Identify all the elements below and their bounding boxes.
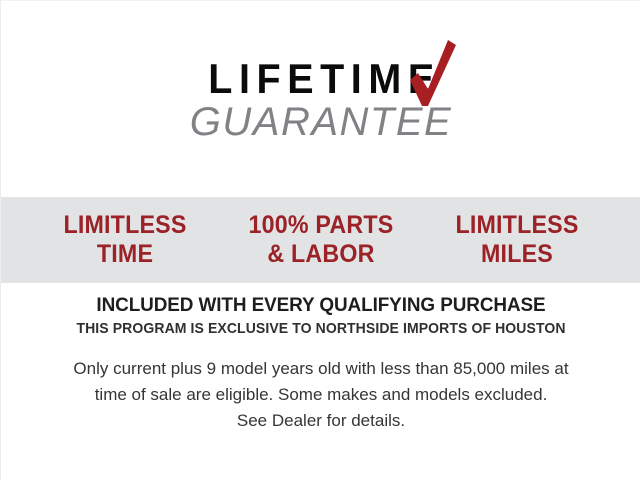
logo-block: LIFETIME GUARANTEE bbox=[1, 56, 640, 144]
disclaimer-headline: INCLUDED WITH EVERY QUALIFYING PURCHASE bbox=[11, 293, 632, 317]
benefit-line-2: MILES bbox=[426, 240, 608, 269]
fine-print-line: Only current plus 9 model years old with… bbox=[1, 356, 640, 382]
fine-print-line: See Dealer for details. bbox=[1, 408, 640, 434]
fine-print: Only current plus 9 model years old with… bbox=[1, 356, 640, 434]
fine-print-line: time of sale are eligible. Some makes an… bbox=[1, 382, 640, 408]
benefit-column-limitless-miles: LIMITLESS MILES bbox=[426, 211, 608, 269]
benefits-band: LIMITLESS TIME 100% PARTS & LABOR LIMITL… bbox=[1, 197, 640, 283]
logo-title-lifetime: LIFETIME bbox=[198, 56, 445, 102]
logo-title-guarantee: GUARANTEE bbox=[190, 100, 452, 144]
benefit-line-1: LIMITLESS bbox=[426, 211, 608, 240]
benefit-line-1: LIMITLESS bbox=[34, 211, 216, 240]
benefit-line-1: 100% PARTS bbox=[230, 211, 412, 240]
benefit-line-2: TIME bbox=[34, 240, 216, 269]
benefit-line-2: & LABOR bbox=[230, 240, 412, 269]
logo-lockup: LIFETIME GUARANTEE bbox=[190, 56, 452, 144]
disclaimer-subline: THIS PROGRAM IS EXCLUSIVE TO NORTHSIDE I… bbox=[14, 318, 628, 340]
benefit-column-limitless-time: LIMITLESS TIME bbox=[34, 211, 216, 269]
disclaimer-block: INCLUDED WITH EVERY QUALIFYING PURCHASE … bbox=[1, 293, 640, 434]
benefit-column-parts-labor: 100% PARTS & LABOR bbox=[230, 211, 412, 269]
advertisement-canvas: LIFETIME GUARANTEE LIMITLESS TIME 100% P… bbox=[0, 0, 640, 480]
